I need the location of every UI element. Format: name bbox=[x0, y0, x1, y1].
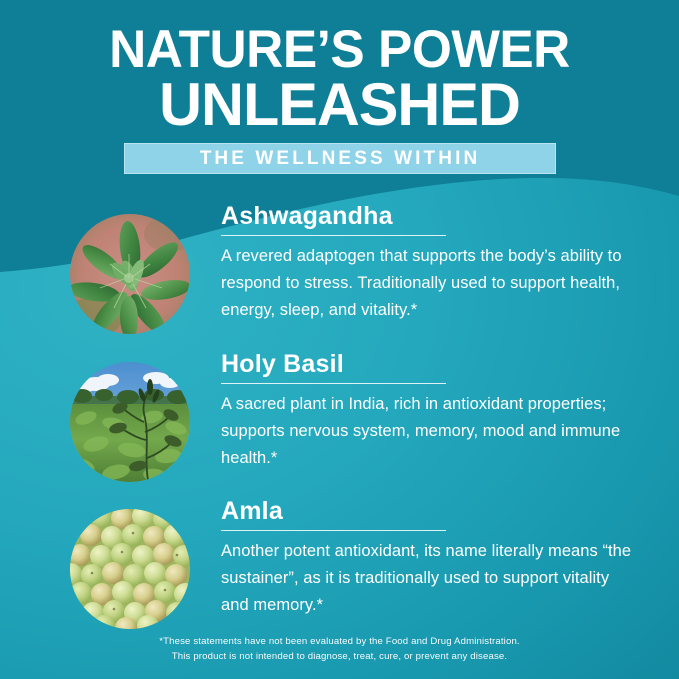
amla-berries-photo bbox=[70, 509, 190, 629]
disclaimer: *These statements have not been evaluate… bbox=[0, 635, 679, 665]
subtitle-banner-text: THE WELLNESS WITHIN bbox=[200, 148, 481, 170]
header: NATURE’S POWER UNLEASHED bbox=[0, 0, 679, 132]
ingredient-divider bbox=[221, 235, 446, 236]
ingredient-copy: Holy Basil A sacred plant in India, rich… bbox=[221, 351, 641, 471]
disclaimer-line-1: *These statements have not been evaluate… bbox=[0, 635, 679, 650]
ingredient-copy: Amla Another potent antioxidant, its nam… bbox=[221, 498, 641, 618]
ashwagandha-plant-photo bbox=[70, 214, 190, 334]
page-title-line-1: NATURE’S POWER bbox=[10, 26, 669, 75]
ingredient-name: Holy Basil bbox=[221, 351, 641, 377]
page-title-line-2: UNLEASHED bbox=[3, 77, 675, 132]
subtitle-banner: THE WELLNESS WITHIN bbox=[124, 143, 556, 174]
holy-basil-field-photo bbox=[70, 362, 190, 482]
promo-graphic: NATURE’S POWER UNLEASHED THE WELLNESS WI… bbox=[0, 0, 679, 679]
ingredient-description: Another potent antioxidant, its name lit… bbox=[221, 538, 633, 618]
ingredient-divider bbox=[221, 530, 446, 531]
ingredient-description: A revered adaptogen that supports the bo… bbox=[221, 243, 633, 323]
ingredient-name: Ashwagandha bbox=[221, 203, 641, 229]
ingredient-description: A sacred plant in India, rich in antioxi… bbox=[221, 391, 633, 471]
disclaimer-line-2: This product is not intended to diagnose… bbox=[0, 650, 679, 665]
ingredient-copy: Ashwagandha A revered adaptogen that sup… bbox=[221, 203, 641, 323]
ingredient-divider bbox=[221, 383, 446, 384]
ingredient-name: Amla bbox=[221, 498, 641, 524]
